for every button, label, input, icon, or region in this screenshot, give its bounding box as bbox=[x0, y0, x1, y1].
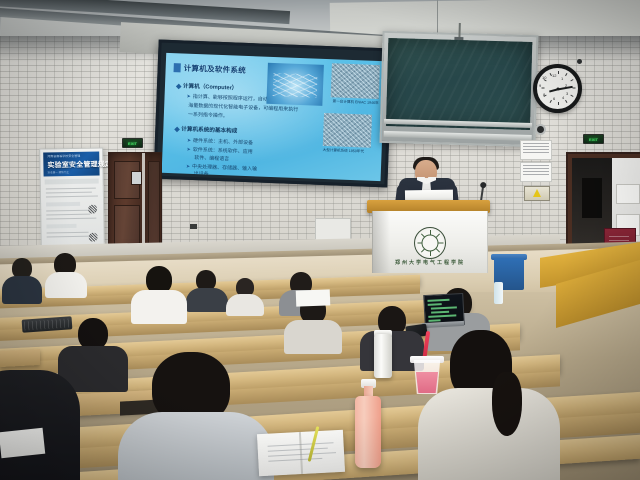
wall-notice-1 bbox=[520, 140, 552, 160]
poster-line bbox=[46, 196, 98, 198]
loose-paper bbox=[0, 428, 45, 458]
green-chalkboard[interactable] bbox=[379, 31, 538, 147]
wall-socket bbox=[190, 224, 197, 229]
chalkboard-surface bbox=[386, 38, 532, 130]
poster-line bbox=[46, 218, 96, 220]
chalk-tray bbox=[384, 131, 532, 141]
clock-numeral: 8 bbox=[543, 92, 545, 97]
poster-line bbox=[46, 192, 92, 194]
slide-bullet-9: 出设备 bbox=[194, 170, 209, 178]
podium-institution-text: 郑州大学电气工程学院 bbox=[373, 259, 487, 266]
arrow-bullet-icon: ➤ bbox=[186, 94, 190, 100]
water-bottle-on-bin bbox=[494, 282, 503, 304]
clock-tick bbox=[558, 102, 559, 105]
poster-subline: 安全第一 预防为主 bbox=[47, 170, 69, 174]
arrow-bullet-icon-3: ➤ bbox=[186, 147, 190, 153]
clock-numeral: 12 bbox=[552, 73, 556, 78]
bench-seat-left bbox=[0, 349, 40, 367]
poster-line bbox=[46, 214, 90, 216]
clock-tick bbox=[565, 73, 567, 76]
clock-tick bbox=[570, 95, 573, 97]
poster-line bbox=[46, 188, 96, 190]
exit-sign-right: EXIT bbox=[583, 134, 604, 144]
poster-seal-icon bbox=[88, 205, 97, 214]
poster-line bbox=[47, 236, 93, 238]
clock-tick bbox=[549, 100, 551, 103]
poster-line bbox=[46, 210, 94, 212]
arrow-bullet-icon-4: ➤ bbox=[186, 164, 190, 170]
diamond-bullet-icon-2 bbox=[175, 126, 180, 131]
door-window bbox=[131, 171, 142, 185]
slide-image-historical-computer-2 bbox=[323, 113, 372, 148]
clock-tick bbox=[570, 79, 573, 81]
hazard-warning-icon bbox=[524, 186, 550, 201]
paper-sheet bbox=[296, 289, 331, 306]
projection-screen[interactable]: 计算机及软件系统 计算机（Computer） ➤指计算、能够按照程序运行，自动、… bbox=[153, 40, 392, 188]
safety-regulations-poster[interactable]: 河南省高等学校安全管理 实验室安全管理规定 安全第一 预防为主 bbox=[39, 147, 105, 250]
open-notebook[interactable] bbox=[257, 430, 345, 476]
university-crest-icon bbox=[414, 227, 446, 259]
thermos-flask[interactable] bbox=[374, 334, 392, 378]
clock-numeral: 3 bbox=[566, 91, 568, 96]
poster-line bbox=[47, 232, 89, 234]
peach-juice-bottle[interactable]: 水蜜桃 bbox=[355, 396, 381, 468]
poster-headline: 实验室安全管理规定 bbox=[47, 159, 112, 170]
door-side-panel bbox=[148, 161, 160, 245]
poster-block bbox=[46, 202, 80, 207]
door-panel-lower bbox=[114, 205, 140, 245]
clock-numeral: 10 bbox=[542, 75, 546, 80]
arrow-bullet-icon-2: ➤ bbox=[187, 138, 191, 144]
slide-surface: 计算机及软件系统 计算机（Computer） ➤指计算、能够按照程序运行，自动、… bbox=[162, 53, 385, 181]
clock-numeral: 1 bbox=[561, 76, 563, 81]
slide-title-bullet-icon bbox=[174, 63, 181, 72]
poster-seal-icon-2 bbox=[89, 233, 98, 242]
poster-header: 河南省高等学校安全管理 实验室安全管理规定 安全第一 预防为主 bbox=[43, 152, 99, 177]
ceiling-sensor-icon bbox=[577, 59, 582, 64]
clock-numeral: 4 bbox=[562, 95, 564, 100]
exit-sign-label: EXIT bbox=[128, 141, 137, 146]
poster-eyebrow: 河南省高等学校安全管理 bbox=[47, 154, 80, 159]
slide-bullet-7: 软件、编程语言 bbox=[194, 154, 229, 162]
poster-block bbox=[46, 224, 76, 229]
slide-bullet-3: 一系列指令操作。 bbox=[188, 111, 228, 120]
wall-clock: 12 1 2 3 4 6 8 9 10 bbox=[533, 64, 582, 113]
poster-block bbox=[45, 179, 99, 185]
podium-shading bbox=[372, 211, 390, 273]
bubble-tea-liquid bbox=[415, 372, 439, 393]
exit-sign-label-right: EXIT bbox=[589, 137, 598, 142]
clock-center-pin bbox=[556, 87, 559, 90]
clock-tick bbox=[558, 71, 559, 74]
door-gap bbox=[142, 153, 145, 251]
clock-tick bbox=[565, 100, 567, 103]
clock-numeral: 6 bbox=[553, 96, 555, 101]
slide-image-world-network bbox=[266, 63, 324, 106]
left-door[interactable] bbox=[108, 152, 162, 252]
security-camera-icon bbox=[537, 126, 544, 133]
clock-tick bbox=[572, 88, 575, 89]
slide-title: 计算机及软件系统 bbox=[183, 63, 246, 76]
lecture-hall-photo: 计算机及软件系统 计算机（Computer） ➤指计算、能够按照程序运行，自动、… bbox=[0, 0, 640, 480]
slide-image-historical-computer-1 bbox=[331, 63, 380, 99]
diamond-bullet-icon bbox=[176, 83, 181, 88]
bubble-tea-cup[interactable] bbox=[412, 360, 442, 394]
corridor-shadow bbox=[582, 178, 602, 218]
notice-sheet bbox=[616, 184, 640, 204]
exit-sign-left: EXIT bbox=[122, 138, 143, 148]
clock-tick bbox=[541, 88, 544, 89]
clock-numeral: 9 bbox=[539, 83, 541, 88]
wall-notice-2 bbox=[520, 162, 552, 182]
